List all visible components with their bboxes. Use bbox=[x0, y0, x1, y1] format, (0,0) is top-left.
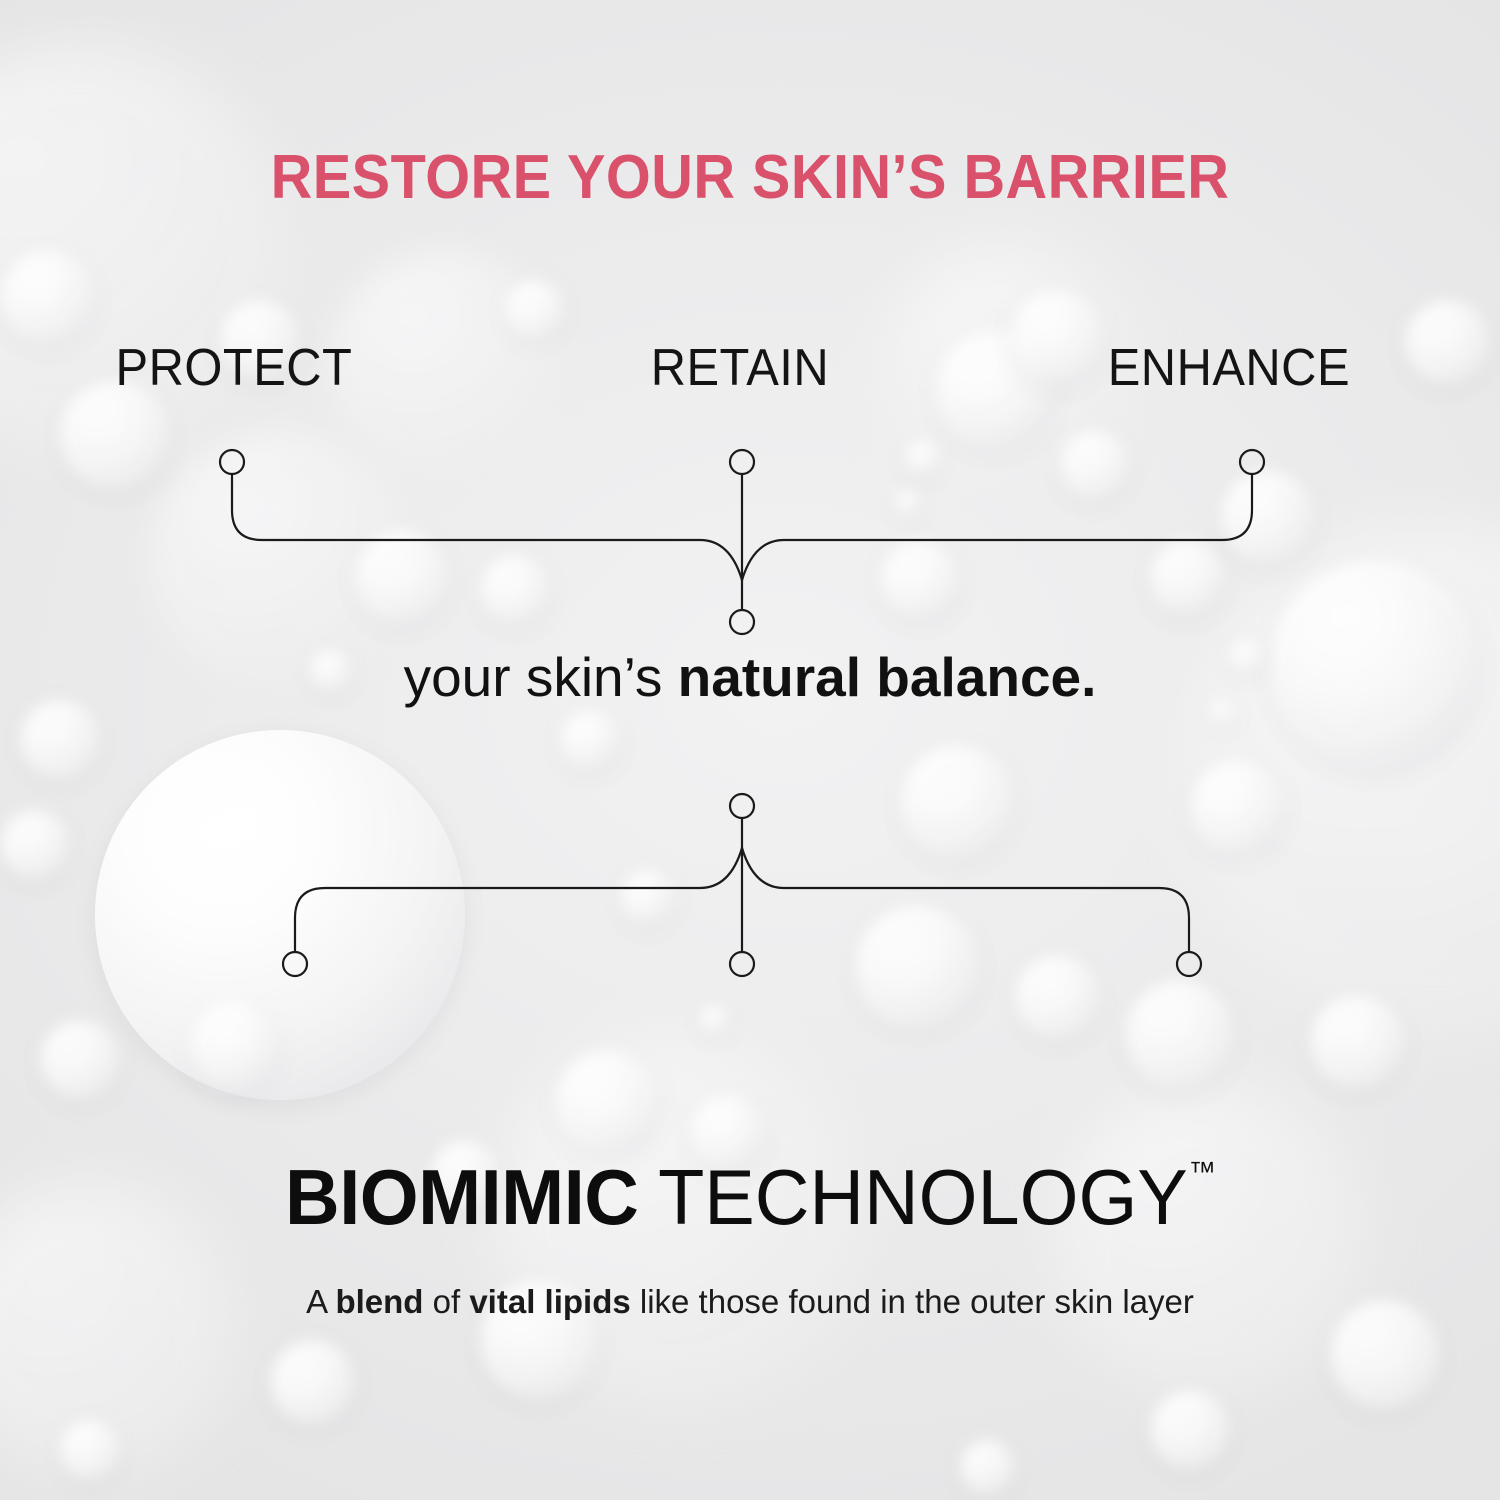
step-label-protect: PROTECT bbox=[116, 338, 353, 398]
brand-title-light: TECHNOLOGY bbox=[638, 1153, 1187, 1241]
subtitle-part-3: like those found in the outer skin layer bbox=[631, 1283, 1194, 1320]
page-title: RESTORE YOUR SKIN’S BARRIER bbox=[53, 142, 1448, 213]
step-label-enhance: ENHANCE bbox=[1108, 338, 1350, 398]
balance-statement-bold: natural balance. bbox=[678, 646, 1097, 708]
subtitle-part-2: of bbox=[423, 1283, 469, 1320]
step-label-retain: RETAIN bbox=[651, 338, 829, 398]
trademark-symbol: ™ bbox=[1189, 1156, 1216, 1187]
balance-statement-regular: your skin’s bbox=[404, 646, 678, 708]
brand-subtitle: A blend of vital lipids like those found… bbox=[0, 1283, 1500, 1321]
step-labels-row: PROTECT RETAIN ENHANCE bbox=[0, 338, 1500, 400]
brand-title: BIOMIMIC TECHNOLOGY™ bbox=[23, 1152, 1478, 1243]
subtitle-bold-blend: blend bbox=[335, 1283, 423, 1320]
marketing-infographic: RESTORE YOUR SKIN’S BARRIER PROTECT RETA… bbox=[0, 0, 1500, 1500]
subtitle-part-1: A bbox=[306, 1283, 335, 1320]
balance-statement: your skin’s natural balance. bbox=[0, 645, 1500, 709]
text-content: RESTORE YOUR SKIN’S BARRIER PROTECT RETA… bbox=[0, 0, 1500, 1500]
subtitle-bold-vital-lipids: vital lipids bbox=[469, 1283, 630, 1320]
brand-title-bold: BIOMIMIC bbox=[285, 1153, 638, 1241]
